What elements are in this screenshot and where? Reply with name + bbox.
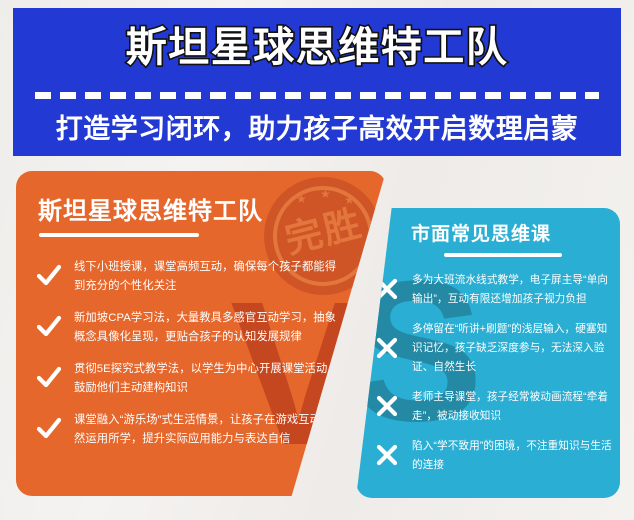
left-card-advantages: V ★ ★ ★ 完胜 斯坦星球思维特工队 线下小班授课，课堂高频互动，确保每个孩… <box>16 171 386 496</box>
x-icon <box>374 276 400 302</box>
check-icon <box>36 416 62 442</box>
x-icon <box>374 442 400 468</box>
right-card-competitors: S 市面常见思维课 多为大班流水线式教学，电子屏主导“单向输出”，互动有限还增加… <box>356 208 620 498</box>
stamp-star-icon: ★ <box>320 188 331 200</box>
comparison-cards: V ★ ★ ★ 完胜 斯坦星球思维特工队 线下小班授课，课堂高频互动，确保每个孩… <box>0 160 634 512</box>
right-card-underline <box>444 253 562 257</box>
list-item-text: 课堂融入“游乐场”式生活情景，让孩子在游戏互动中自然运用所学，提升实际应用能力与… <box>74 414 344 445</box>
left-card-list: 线下小班授课，课堂高频互动，确保每个孩子都能得到充分的个性化关注 新加坡CPA学… <box>34 257 344 461</box>
list-item: 陷入“学不致用”的困境，不注重知识与生活的连接 <box>370 436 618 474</box>
list-item: 多停留在“听讲+刷题”的浅层输入，硬塞知识记忆，孩子缺乏深度参与，无法深入验证、… <box>370 319 618 376</box>
check-icon <box>36 314 62 340</box>
list-item-text: 线下小班授课，课堂高频互动，确保每个孩子都能得到充分的个性化关注 <box>74 261 336 292</box>
list-item-text: 多为大班流水线式教学，电子屏主导“单向输出”，互动有限还增加孩子视力负担 <box>412 274 608 305</box>
banner-subtitle: 打造学习闭环，助力孩子高效开启数理启蒙 <box>13 111 621 147</box>
right-card-list: 多为大班流水线式教学，电子屏主导“单向输出”，互动有限还增加孩子视力负担 多停留… <box>370 270 618 485</box>
list-item: 线下小班授课，课堂高频互动，确保每个孩子都能得到充分的个性化关注 <box>34 257 344 295</box>
check-icon <box>36 365 62 391</box>
list-item-text: 贯彻5E探究式教学法，以学生为中心开展课堂活动，鼓励他们主动建构知识 <box>74 363 339 394</box>
list-item: 老师主导课堂，孩子经常被动画流程“牵着走”，被动接收知识 <box>370 387 618 425</box>
banner-title: 斯坦星球思维特工队 <box>13 22 621 72</box>
right-card-title: 市面常见思维课 <box>356 222 606 248</box>
list-item: 贯彻5E探究式教学法，以学生为中心开展课堂活动，鼓励他们主动建构知识 <box>34 359 344 397</box>
left-card-title: 斯坦星球思维特工队 <box>38 197 263 227</box>
list-item-text: 新加坡CPA学习法，大量教具多感官互动学习，抽象概念具像化呈现，更贴合孩子的认知… <box>74 312 336 343</box>
header-banner: 斯坦星球思维特工队 打造学习闭环，助力孩子高效开启数理启蒙 <box>13 8 621 156</box>
check-icon <box>36 263 62 289</box>
list-item-text: 老师主导课堂，孩子经常被动画流程“牵着走”，被动接收知识 <box>412 391 608 422</box>
list-item-text: 多停留在“听讲+刷题”的浅层输入，硬塞知识记忆，孩子缺乏深度参与，无法深入验证、… <box>412 323 607 373</box>
dashed-divider <box>35 92 599 99</box>
x-icon <box>374 393 400 419</box>
left-card-underline <box>39 233 199 237</box>
stamp-star-icon: ★ <box>296 193 307 205</box>
x-icon <box>374 335 400 361</box>
poster-root: 斯坦星球思维特工队 打造学习闭环，助力孩子高效开启数理启蒙 V ★ ★ ★ 完胜… <box>0 0 634 520</box>
list-item: 多为大班流水线式教学，电子屏主导“单向输出”，互动有限还增加孩子视力负担 <box>370 270 618 308</box>
list-item: 课堂融入“游乐场”式生活情景，让孩子在游戏互动中自然运用所学，提升实际应用能力与… <box>34 410 344 448</box>
list-item-text: 陷入“学不致用”的困境，不注重知识与生活的连接 <box>412 440 612 471</box>
list-item: 新加坡CPA学习法，大量教具多感官互动学习，抽象概念具像化呈现，更贴合孩子的认知… <box>34 308 344 346</box>
